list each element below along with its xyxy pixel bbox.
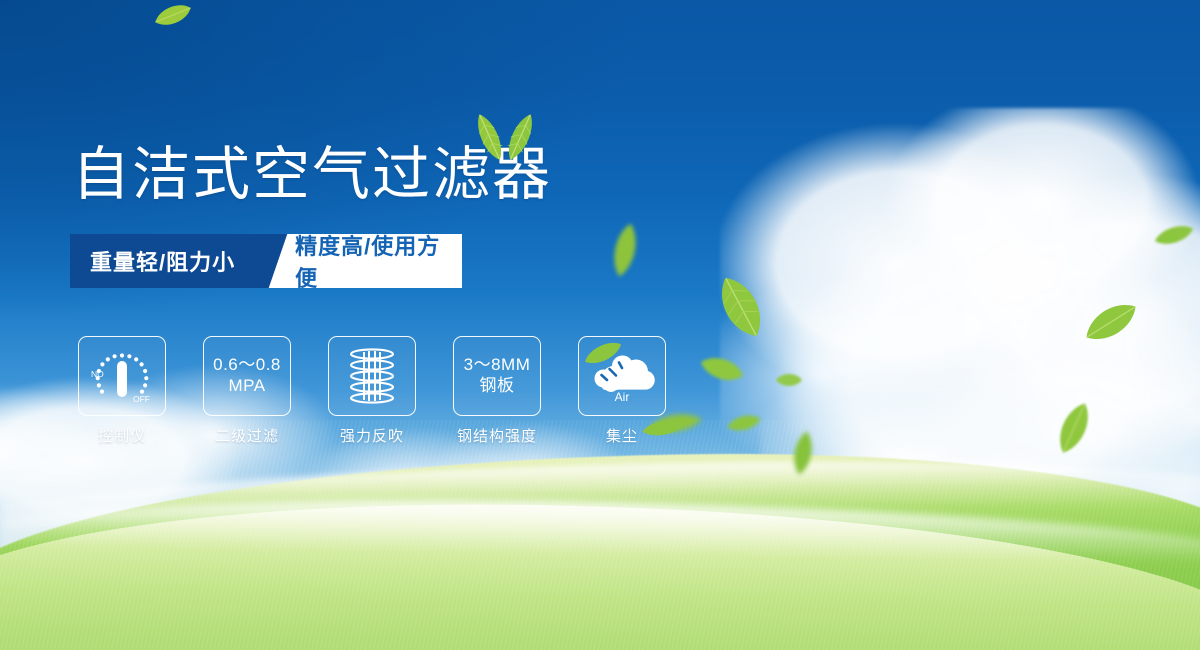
feature-item-dust-collection[interactable]: Air 集尘 <box>578 336 666 446</box>
feature-icon-box: NO OFF <box>78 336 166 416</box>
pressure-text-icon: 0.6～0.8 MPA <box>213 355 281 396</box>
filter-cartridge-icon <box>341 345 403 407</box>
grass-field <box>0 420 1200 650</box>
grass-texture <box>0 420 1200 650</box>
feature-item-pulse-blowback[interactable]: 强力反吹 <box>328 336 416 446</box>
feature-icon-box: Air <box>578 336 666 416</box>
feature-label: 集尘 <box>606 425 638 446</box>
feature-icon-row: NO OFF 控制仪 0.6～0.8 MPA 二级过滤 <box>78 336 666 446</box>
feature-label: 二级过滤 <box>215 425 279 446</box>
tagline-left-segment: 重量轻/阻力小 <box>70 234 261 288</box>
dial-label-off: OFF <box>133 394 150 404</box>
air-cloud-icon: Air <box>589 348 655 404</box>
tagline-right-text: 精度高/使用方便 <box>295 234 444 288</box>
tagline-left-text: 重量轻/阻力小 <box>90 245 235 277</box>
feature-label: 强力反吹 <box>340 425 404 446</box>
feature-label: 控制仪 <box>98 425 146 446</box>
feature-icon-box: 3～8MM 钢板 <box>453 336 541 416</box>
feature-item-controller[interactable]: NO OFF 控制仪 <box>78 336 166 446</box>
pressure-range: 0.6～0.8 <box>213 355 281 374</box>
feature-icon-box <box>328 336 416 416</box>
dial-label-no: NO <box>91 369 104 379</box>
steel-plate-text-icon: 3～8MM 钢板 <box>464 355 531 396</box>
dial-knob-icon: NO OFF <box>85 344 159 408</box>
air-filter-product-banner: 自洁式空气过滤器 重量轻/阻力小 精度高/使用方便 <box>0 0 1200 650</box>
feature-icon-box: 0.6～0.8 MPA <box>203 336 291 416</box>
feature-label: 钢结构强度 <box>457 425 537 446</box>
feature-item-two-stage-filter[interactable]: 0.6～0.8 MPA 二级过滤 <box>203 336 291 446</box>
feature-item-steel-strength[interactable]: 3～8MM 钢板 钢结构强度 <box>453 336 541 446</box>
pressure-unit: MPA <box>213 376 281 397</box>
steel-plate-word: 钢板 <box>464 376 531 397</box>
sprout-leaves-icon <box>470 108 540 166</box>
steel-thickness: 3～8MM <box>464 355 531 374</box>
air-label: Air <box>615 390 630 404</box>
tagline-badge: 重量轻/阻力小 精度高/使用方便 <box>70 234 462 288</box>
tagline-right-segment: 精度高/使用方便 <box>261 234 462 288</box>
